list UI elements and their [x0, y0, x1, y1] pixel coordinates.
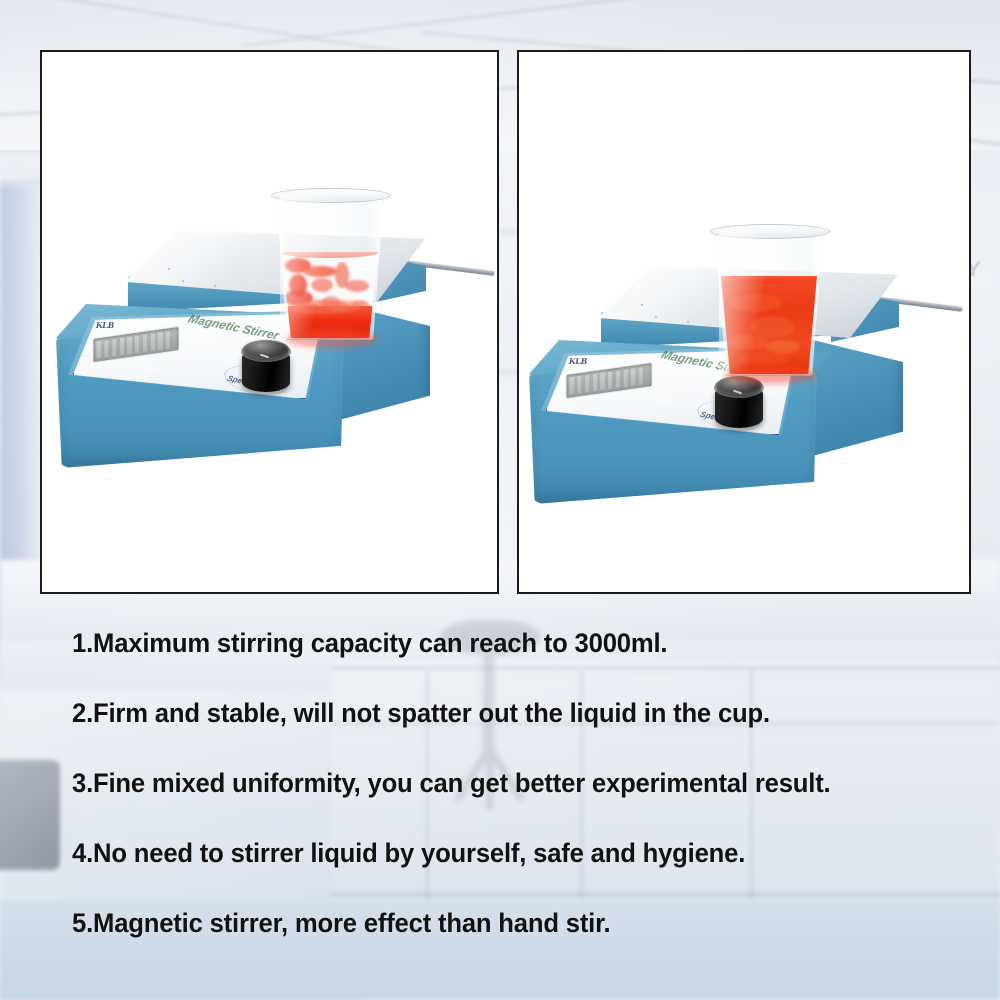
beaker-rim: [710, 224, 831, 239]
beaker-liquid-before: [281, 252, 379, 338]
brand-logo: KLB: [568, 356, 587, 366]
product-photo-after: KLB Magnetic Stirrer Speed Control: [517, 50, 971, 594]
feature-item-1: 1.Maximum stirring capacity can reach to…: [72, 630, 946, 657]
beaker-liquid-after: [720, 276, 818, 374]
feature-item-4: 4.No need to stirrer liquid by yourself,…: [72, 840, 946, 867]
feature-item-2: 2.Firm and stable, will not spatter out …: [72, 700, 946, 727]
product-photo-before: KLB Magnetic Stirrer Speed Control: [40, 50, 499, 594]
beaker-rim: [271, 188, 392, 203]
beaker-after: [715, 228, 823, 376]
feature-item-5: 5.Magnetic stirrer, more effect than han…: [72, 910, 946, 937]
beaker-reflection: [286, 330, 378, 348]
beaker-before: [276, 192, 384, 340]
feature-item-3: 3.Fine mixed uniformity, you can get bet…: [72, 770, 946, 797]
feature-list: 1.Maximum stirring capacity can reach to…: [72, 630, 992, 980]
beaker-reflection: [725, 366, 817, 384]
product-marketing-image: AY KLB: [0, 0, 1000, 1000]
brand-logo: KLB: [95, 320, 114, 330]
